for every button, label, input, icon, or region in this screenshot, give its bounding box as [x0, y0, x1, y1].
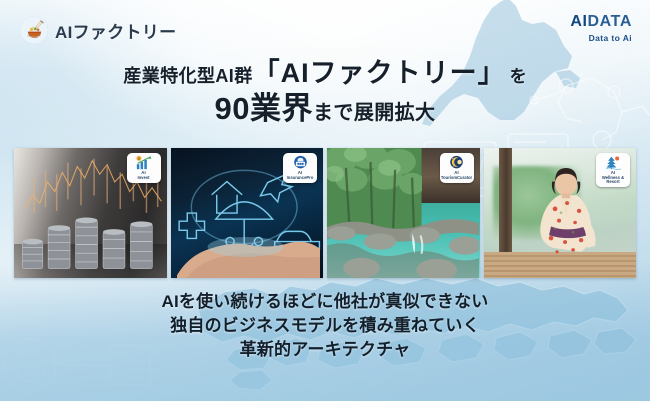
insurance-shield-icon: [292, 155, 309, 170]
badge-line-2: Invest: [137, 176, 149, 180]
badge-ai-invest: ¥ AI Invest: [127, 153, 161, 183]
page-headline: 産業特化型AI群「AIファクトリー」を 90業界まで展開拡大: [0, 58, 650, 127]
headline-expansion-text: まで展開拡大: [313, 102, 435, 124]
badge-line-2: InsurancePro: [287, 176, 314, 180]
brand-lockup: AIファクトリー: [20, 16, 176, 44]
ai-data-logo: AIDATA Data to Ai: [570, 14, 632, 43]
industry-card-tourism[interactable]: AI TourismCurator: [327, 148, 480, 278]
pine-tree-sun-icon: [605, 155, 622, 170]
yukata-woman-figure: [531, 166, 601, 260]
industry-card-invest[interactable]: ¥ AI Invest: [14, 148, 167, 278]
coin-stacks-graphic: [17, 203, 163, 271]
ai-data-data-text: DATA: [588, 13, 632, 30]
headline-product-name: 「AIファクトリー」: [253, 58, 506, 88]
badge-ai-wellness-resort: AI Wellness & Resort: [596, 153, 630, 187]
tagline-line-2: 独自のビジネスモデルを積み重ねていく: [0, 314, 650, 338]
open-hand-graphic: [177, 223, 320, 278]
ai-data-tagline: Data to Ai: [570, 34, 632, 43]
headline-industry-count: 90業界: [215, 91, 313, 126]
badge-line-2: TourismCurator: [441, 176, 472, 180]
ai-factory-logo-icon: [20, 16, 48, 44]
value-proposition-text: AIを使い続けるほどに他社が真似できない 独自のビジネスモデルを積み重ねていく …: [0, 290, 650, 362]
brand-name: AIファクトリー: [55, 18, 176, 43]
badge-line-2: Wellness & Resort: [597, 176, 629, 185]
industry-card-strip: ¥ AI Invest: [14, 148, 636, 278]
tagline-line-1: AIを使い続けるほどに他社が真似できない: [0, 290, 650, 314]
headline-prefix: 産業特化型AI群: [123, 66, 252, 86]
industry-card-insurance[interactable]: AI InsurancePro: [171, 148, 324, 278]
bar-chart-growth-icon: ¥: [135, 155, 152, 170]
industry-card-wellness[interactable]: AI Wellness & Resort: [484, 148, 637, 278]
badge-ai-insurancepro: AI InsurancePro: [283, 153, 317, 183]
headline-line-2: 90業界まで展開拡大: [0, 92, 650, 127]
headline-line-1: 産業特化型AI群「AIファクトリー」を: [0, 58, 650, 88]
tagline-line-3: 革新的アーキテクチャ: [0, 338, 650, 362]
ai-data-ai-text: AI: [570, 13, 587, 30]
slide-canvas: AIファクトリー AIDATA Data to Ai 産業特化型AI群「AIファ…: [0, 0, 650, 401]
headline-particle: を: [510, 67, 527, 86]
moon-curator-icon: [448, 155, 465, 170]
badge-ai-tourismcurator: AI TourismCurator: [440, 153, 474, 183]
